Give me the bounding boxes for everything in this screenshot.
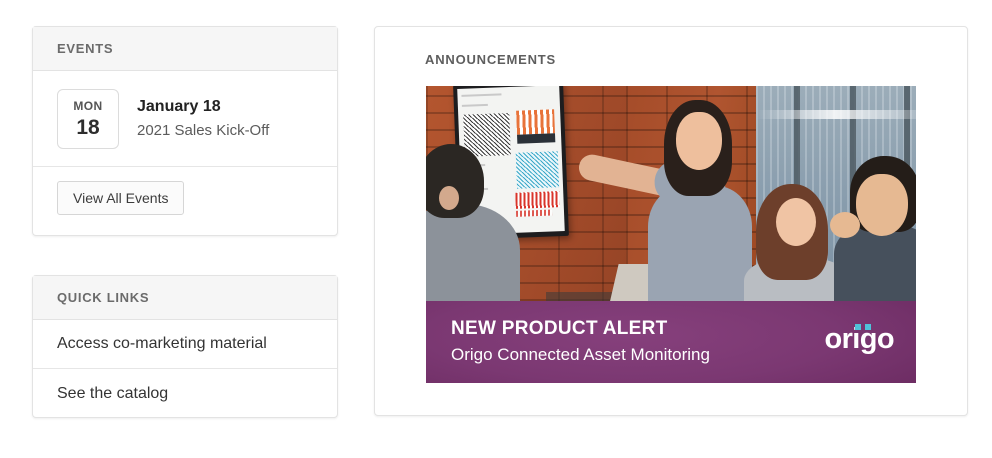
quick-link-item-catalog[interactable]: See the catalog <box>33 369 337 418</box>
announcements-card: ANNOUNCEMENTS <box>374 26 968 416</box>
display-heatmap <box>516 151 559 189</box>
announcement-carousel[interactable]: NEW PRODUCT ALERT Origo Connected Asset … <box>426 86 916 383</box>
events-card-header: EVENTS <box>33 27 337 71</box>
announcement-subhead: Origo Connected Asset Monitoring <box>451 344 710 366</box>
origo-logo-accent-square <box>865 324 871 330</box>
quick-links-header-title: QUICK LINKS <box>57 290 149 305</box>
seated-woman-face <box>776 198 816 246</box>
foreground-man-body <box>426 204 520 301</box>
event-date-dayofweek: MON <box>73 100 102 112</box>
quick-links-card: QUICK LINKS Access co-marketing material… <box>32 275 338 418</box>
announcement-headline: NEW PRODUCT ALERT <box>451 317 710 341</box>
presenter-body <box>648 186 752 301</box>
announcement-photo <box>426 86 916 301</box>
announcements-header-title: ANNOUNCEMENTS <box>425 52 556 67</box>
event-title: January 18 <box>137 96 269 118</box>
display-text-line <box>461 93 501 97</box>
origo-logo-accent-square <box>855 324 861 330</box>
display-red-chart <box>516 209 552 216</box>
window-glare <box>756 110 916 119</box>
announcement-banner-text: NEW PRODUCT ALERT Origo Connected Asset … <box>451 317 710 366</box>
events-card: EVENTS MON 18 January 18 2021 Sales Kick… <box>32 26 338 236</box>
event-subtitle: 2021 Sales Kick-Off <box>137 120 269 141</box>
display-bar-chart <box>516 109 555 134</box>
event-text-block: January 18 2021 Sales Kick-Off <box>137 96 269 141</box>
announcement-banner: NEW PRODUCT ALERT Origo Connected Asset … <box>426 301 916 383</box>
quick-link-item-co-marketing[interactable]: Access co-marketing material <box>33 320 337 369</box>
dashboard-page: EVENTS MON 18 January 18 2021 Sales Kick… <box>0 0 992 458</box>
foreground-man-ear <box>439 186 459 210</box>
quick-links-card-header: QUICK LINKS <box>33 276 337 320</box>
seated-man-hand <box>830 212 860 238</box>
display-bar-chart-base <box>517 133 555 143</box>
events-header-title: EVENTS <box>57 41 113 56</box>
presenter-face <box>676 112 722 170</box>
event-list-item[interactable]: MON 18 January 18 2021 Sales Kick-Off <box>33 71 337 167</box>
display-red-chart <box>515 191 560 209</box>
events-card-footer: View All Events <box>33 167 337 229</box>
origo-logo: origo <box>825 325 895 354</box>
event-date-chip: MON 18 <box>57 89 119 149</box>
display-text-line <box>462 104 488 107</box>
event-date-daynumber: 18 <box>76 117 99 138</box>
seated-man-face <box>856 174 908 236</box>
view-all-events-button[interactable]: View All Events <box>57 181 184 215</box>
